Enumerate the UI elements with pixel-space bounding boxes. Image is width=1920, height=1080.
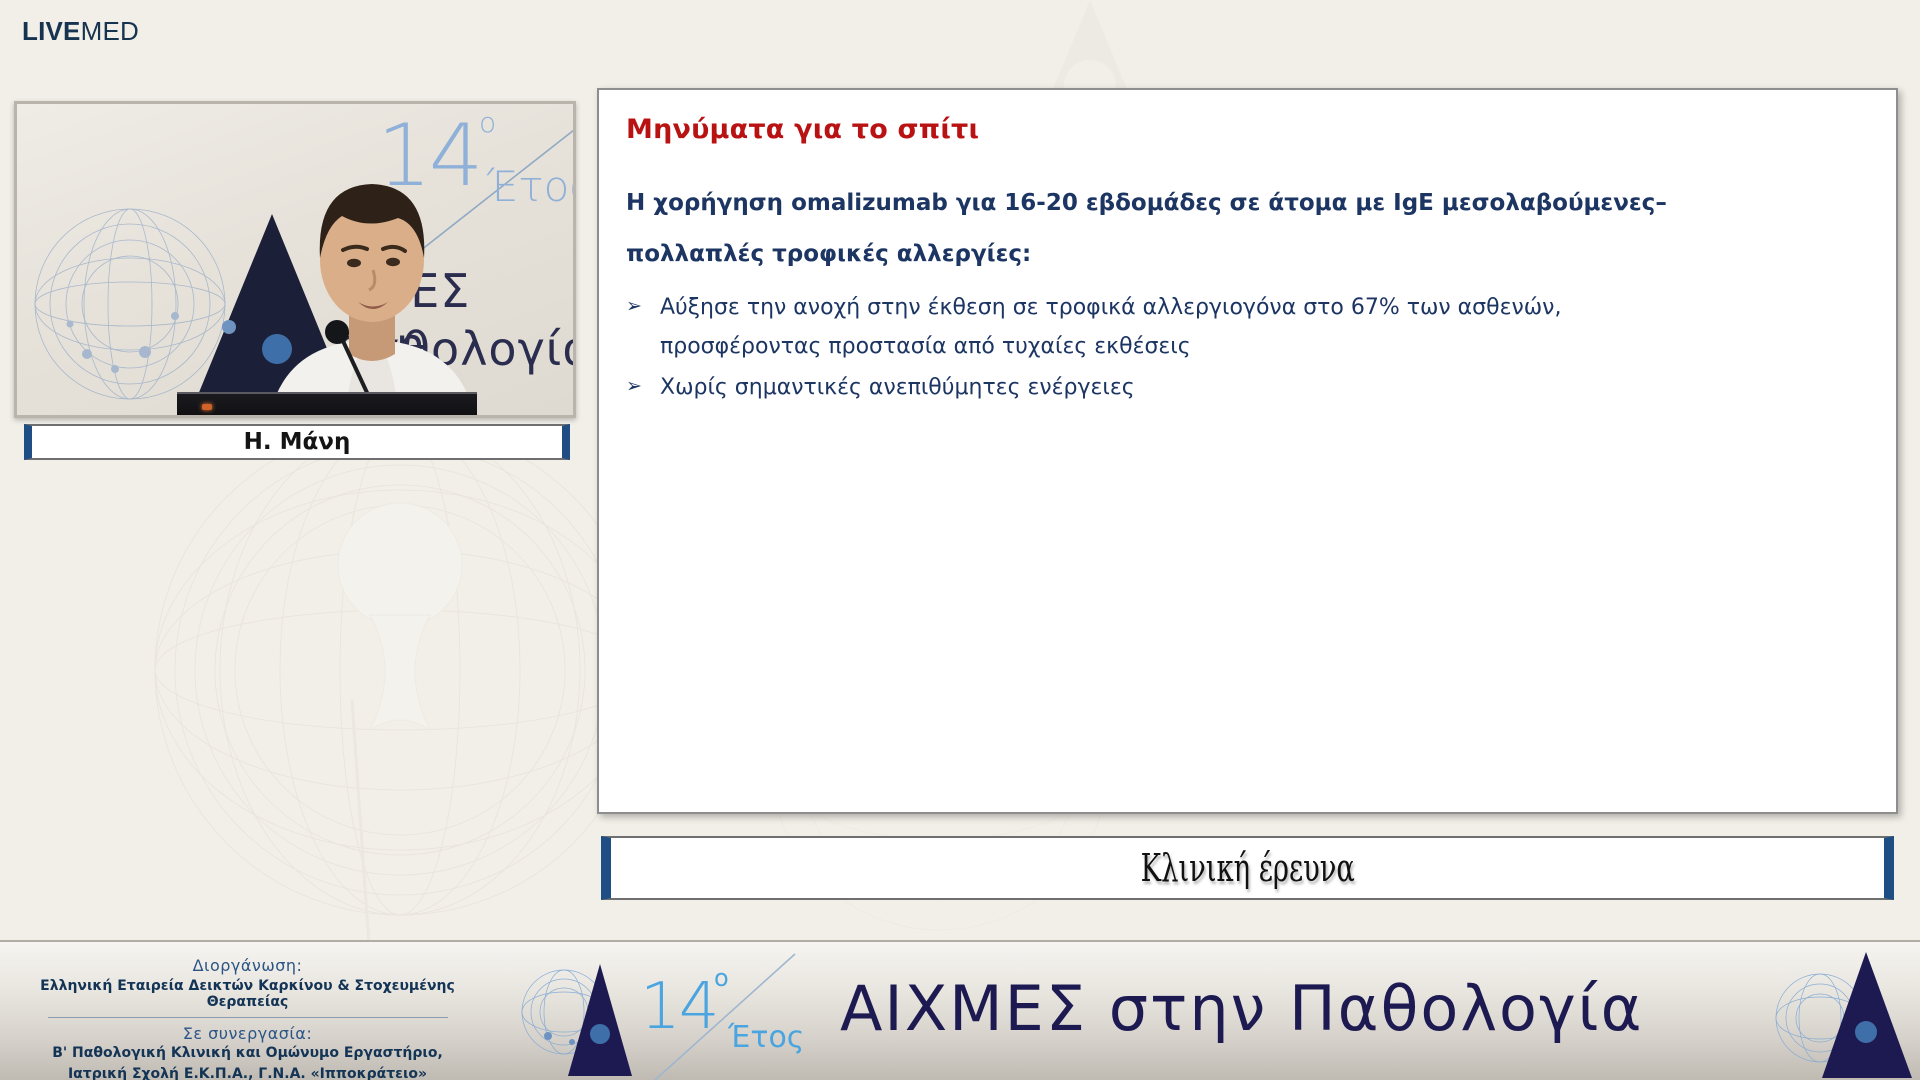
- event-etos-label: Έτος: [728, 1020, 804, 1055]
- livemed-logo[interactable]: LIVEMED: [22, 16, 139, 47]
- collaboration-label: Σε συνεργασία:: [10, 1024, 485, 1043]
- slide-bullet-text: Αύξησε την ανοχή στην έκθεση σε τροφικά …: [660, 288, 1870, 366]
- video-frame: 14 o Έτος ΧΜΕΣ στη Παθολογία: [17, 104, 573, 415]
- collaboration-line-1: Β' Παθολογική Κλινική και Ομώνυμο Εργαστ…: [10, 1043, 485, 1064]
- slide-bullet-item: ➢ Αύξησε την ανοχή στην έκθεση σε τροφικ…: [626, 288, 1870, 366]
- organizer-name: Ελληνική Εταιρεία Δεικτών Καρκίνου & Στο…: [10, 978, 485, 1010]
- organizer-label: Διοργάνωση:: [10, 956, 485, 975]
- conference-emblem-right: [1770, 946, 1920, 1080]
- slide-title: Μηνύματα για το σπίτι: [626, 114, 979, 145]
- brand-header: LIVEMED: [0, 0, 1920, 62]
- arrow-bullet-icon: ➢: [626, 368, 660, 405]
- logo-med-text: MED: [81, 16, 139, 46]
- event-title: ΑΙΧΜΕΣ στην Παθολογία: [840, 972, 1644, 1045]
- collaboration-line-2: Ιατρική Σχολή Ε.Κ.Π.Α., Γ.Ν.Α. «Ιπποκράτ…: [10, 1064, 485, 1080]
- slide-bullet-item: ➢ Χωρίς σημαντικές ανεπιθύμητες ενέργειε…: [626, 368, 1870, 407]
- slide-lead-line-2: πολλαπλές τροφικές αλλεργίες:: [626, 243, 1870, 266]
- slide-lead-line-1: Η χορήγηση omalizumab για 16-20 εβδομάδε…: [626, 192, 1870, 215]
- slide-bullet-line-2: προσφέροντας προστασία από τυχαίες εκθέσ…: [660, 334, 1191, 359]
- backdrop-degree-symbol: o: [479, 106, 496, 139]
- speaker-name-label: Η. Μάνη: [244, 429, 351, 455]
- background-watermark-globe: [120, 400, 680, 960]
- podium-indicator-light: [202, 404, 212, 410]
- slide-body: Η χορήγηση omalizumab για 16-20 εβδομάδε…: [626, 192, 1870, 409]
- conference-emblem-left: [520, 950, 640, 1080]
- arrow-bullet-icon: ➢: [626, 288, 660, 325]
- organizer-block: Διοργάνωση: Ελληνική Εταιρεία Δεικτών Κα…: [10, 956, 485, 1080]
- podium-screen: [177, 392, 477, 415]
- section-title-label: Κλινική έρευνα: [1140, 846, 1354, 890]
- speaker-video-player[interactable]: 14 o Έτος ΧΜΕΣ στη Παθολογία: [14, 101, 576, 418]
- conference-banner: Διοργάνωση: Ελληνική Εταιρεία Δεικτών Κα…: [0, 940, 1920, 1080]
- slide-bullet-text: Χωρίς σημαντικές ανεπιθύμητες ενέργειες: [660, 368, 1870, 407]
- slide-bullet-line-1: Αύξησε την ανοχή στην έκθεση σε τροφικά …: [660, 295, 1561, 320]
- speaker-name-bar: Η. Μάνη: [24, 424, 570, 460]
- slide-section-bar: Κλινική έρευνα: [601, 836, 1894, 900]
- event-number: 14: [640, 970, 717, 1044]
- logo-live-text: LIVE: [22, 16, 81, 46]
- presentation-slide[interactable]: Μηνύματα για το σπίτι Η χορήγηση omalizu…: [597, 88, 1898, 814]
- event-degree-icon: o: [714, 964, 729, 992]
- organizer-divider: [48, 1017, 448, 1018]
